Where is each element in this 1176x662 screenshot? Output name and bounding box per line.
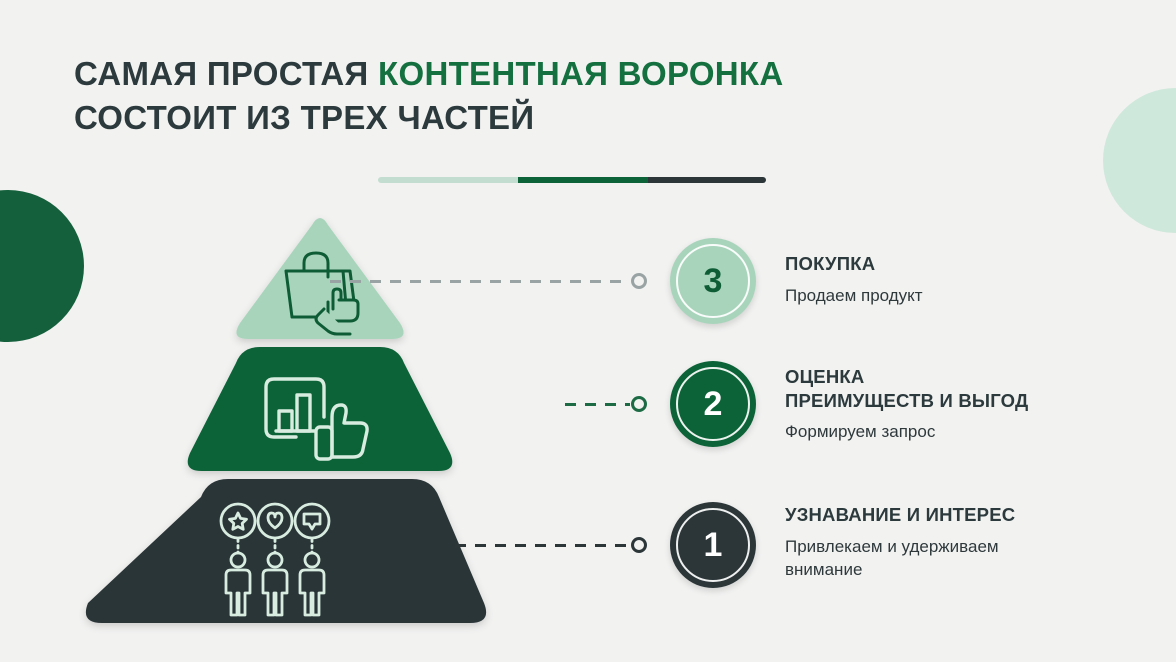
step-text-block-3: ПОКУПКА Продаем продукт <box>785 252 1115 308</box>
step-heading-1: УЗНАВАНИЕ И ИНТЕРЕС <box>785 503 1125 527</box>
step-number-circle-2[interactable]: 2 <box>670 361 756 447</box>
step-number-1: 1 <box>704 526 723 565</box>
page-title: Самая простая Контентная воронка состоит… <box>74 52 974 140</box>
step-heading-3: ПОКУПКА <box>785 252 1115 276</box>
funnel-layer-2-shape <box>188 347 453 471</box>
connector-endpoint-step-3 <box>631 273 647 289</box>
title-line1-accent: Контентная воронка <box>378 55 783 92</box>
step-text-block-1: УЗНАВАНИЕ И ИНТЕРЕС Привлекаем и удержив… <box>785 503 1125 582</box>
step-number-circle-3[interactable]: 3 <box>670 238 756 324</box>
title-line1-plain: Самая простая <box>74 55 378 92</box>
connector-line-step-1 <box>455 544 630 547</box>
step-subtitle-3: Продаем продукт <box>785 285 1115 308</box>
slide-canvas: Самая простая Контентная воронка состоит… <box>0 0 1176 662</box>
step-subtitle-2: Формируем запрос <box>785 421 1125 444</box>
title-line2: состоит из трех частей <box>74 99 534 136</box>
step-number-3: 3 <box>704 262 723 301</box>
step-text-block-2: ОЦЕНКА ПРЕИМУЩЕСТВ И ВЫГОД Формируем зап… <box>785 365 1125 444</box>
divider-segment-dark <box>648 177 766 183</box>
funnel-pyramid <box>60 205 620 655</box>
connector-line-step-2 <box>565 403 630 406</box>
step-heading-2: ОЦЕНКА ПРЕИМУЩЕСТВ И ВЫГОД <box>785 365 1125 412</box>
divider-segment-green <box>518 177 648 183</box>
decorative-circle-right <box>1103 88 1176 233</box>
step-number-2: 2 <box>704 385 723 424</box>
title-divider-bar <box>378 177 766 183</box>
step-number-circle-1[interactable]: 1 <box>670 502 756 588</box>
funnel-layer-1-shape <box>86 479 486 623</box>
divider-segment-light <box>378 177 518 183</box>
step-subtitle-1: Привлекаем и удерживаем внимание <box>785 536 1125 582</box>
connector-endpoint-step-2 <box>631 396 647 412</box>
connector-line-step-3 <box>330 280 630 283</box>
connector-endpoint-step-1 <box>631 537 647 553</box>
